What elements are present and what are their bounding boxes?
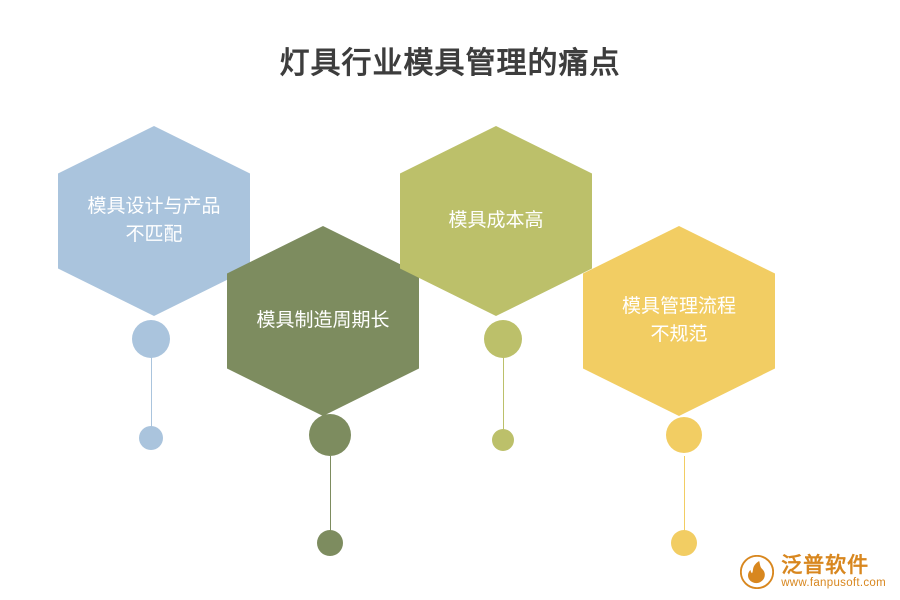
- connector-line-2: [330, 456, 331, 534]
- connector-line-1: [151, 355, 152, 430]
- brand-name: 泛普软件: [781, 554, 869, 577]
- hexagon-node-1[interactable]: 模具设计与产品 不匹配: [58, 126, 250, 316]
- hexagon-node-2-label: 模具制造周期长: [244, 307, 401, 335]
- diagram-canvas: 灯具行业模具管理的痛点 模具设计与产品 不匹配 模具制造周期长 模具成本高 模具…: [0, 0, 900, 600]
- hexagon-node-3[interactable]: 模具成本高: [400, 126, 592, 316]
- connector-line-3: [503, 355, 504, 432]
- connector-line-4: [684, 456, 685, 535]
- node-4-top-dot: [666, 417, 702, 453]
- brand-text: 泛普软件 www.fanpusoft.com: [781, 554, 886, 590]
- node-1-top-dot: [132, 320, 170, 358]
- flame-logo-icon: [740, 555, 774, 589]
- node-2-top-dot: [309, 414, 351, 456]
- brand-logo: 泛普软件 www.fanpusoft.com: [740, 554, 886, 590]
- node-3-top-dot: [484, 320, 522, 358]
- hexagon-node-4[interactable]: 模具管理流程 不规范: [583, 226, 775, 416]
- hexagon-node-2[interactable]: 模具制造周期长: [227, 226, 419, 416]
- brand-url: www.fanpusoft.com: [781, 577, 886, 590]
- page-title: 灯具行业模具管理的痛点: [0, 38, 900, 82]
- hexagon-node-3-label: 模具成本高: [436, 207, 555, 235]
- hexagon-node-1-label: 模具设计与产品 不匹配: [75, 193, 232, 248]
- node-1-bottom-dot: [139, 426, 163, 450]
- node-2-bottom-dot: [317, 530, 343, 556]
- node-4-bottom-dot: [671, 530, 697, 556]
- hexagon-node-4-label: 模具管理流程 不规范: [610, 293, 748, 348]
- node-3-bottom-dot: [492, 429, 514, 451]
